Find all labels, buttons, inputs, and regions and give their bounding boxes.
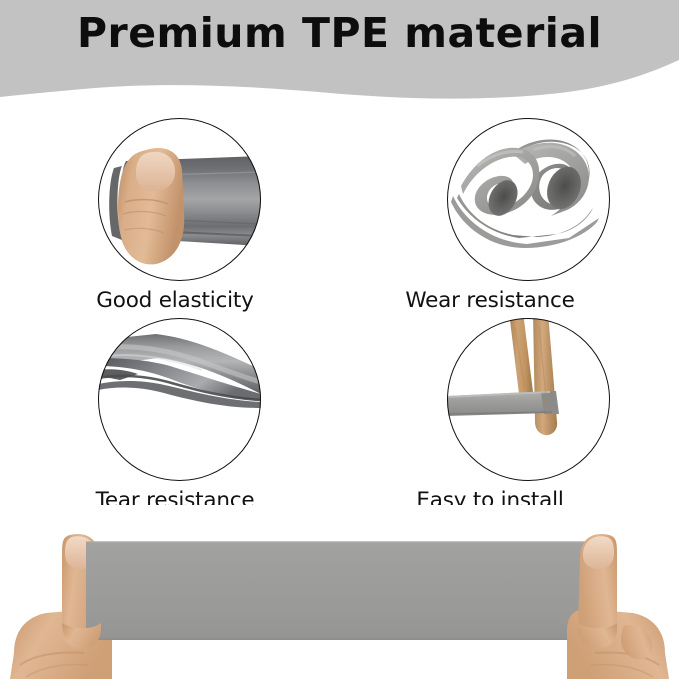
feature-wear-resistance[interactable]: Wear resistance [345, 118, 635, 312]
feature-grid: Good elasticity [0, 118, 679, 518]
feature-image-circle [98, 318, 261, 481]
header-banner: Premium TPE material [0, 0, 679, 110]
chair-legs-band-image [447, 318, 610, 481]
feature-good-elasticity[interactable]: Good elasticity [30, 118, 320, 312]
feature-tear-resistance[interactable]: Tear resistance [30, 318, 320, 512]
feature-label: Wear resistance [345, 289, 635, 312]
feature-label-line1: Good elasticity [96, 288, 253, 313]
twisted-band-image [98, 318, 261, 481]
page-title: Premium TPE material [0, 9, 679, 57]
feature-easy-to-install[interactable]: Easy to install and remove [345, 318, 635, 535]
feature-label-line1: Wear resistance [405, 288, 574, 313]
feature-image-circle [98, 118, 261, 281]
feature-image-circle [447, 318, 610, 481]
product-infographic: Premium TPE material [0, 0, 679, 679]
feature-image-circle [447, 118, 610, 281]
feature-label: Good elasticity [30, 289, 320, 312]
hand-stretching-band-image [98, 118, 261, 281]
hands-stretching-band-image [0, 505, 679, 679]
folded-band-image [447, 118, 610, 281]
